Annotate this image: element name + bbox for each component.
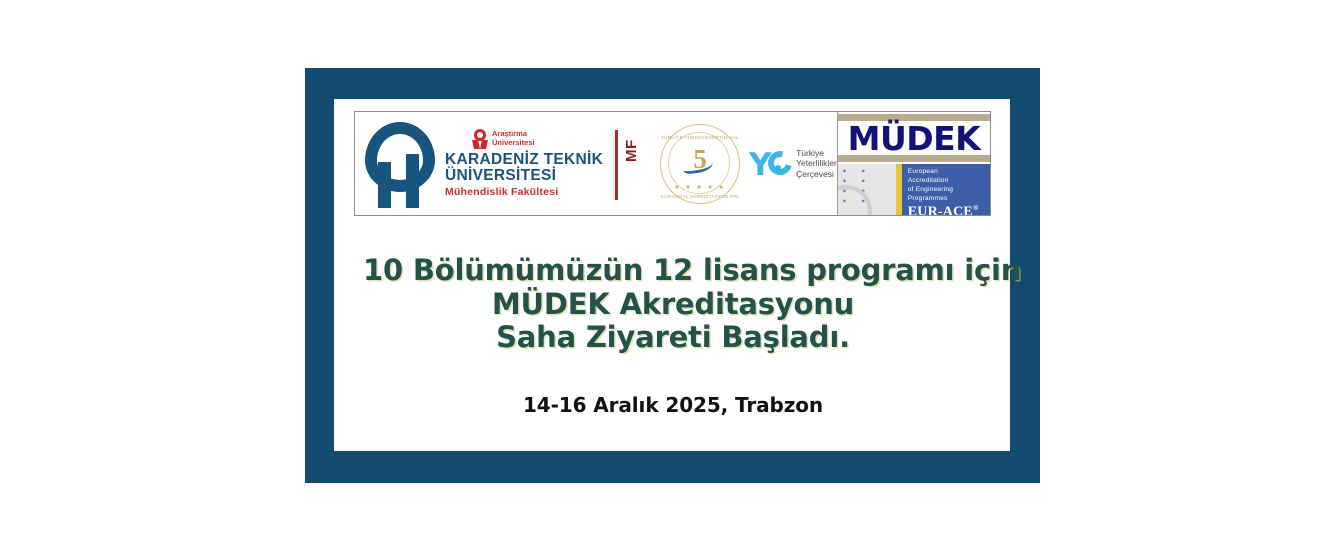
quality-seal-icon: TÜRKİYE YÜKSEKÖĞRETİM KALİTE KURULU 5 ★ … [660,124,740,204]
tyc-line-2: Yeterlilikler [796,158,837,168]
logo-strip: Araştırma Üniversitesi KARADENİZ TEKNİK … [354,111,991,216]
seal-arc-bottom-text: KURUMSAL AKREDİTASYON PROGRAMI [661,194,739,199]
seal-arc-top-text: TÜRKİYE YÜKSEKÖĞRETİM KALİTE KURULU [661,135,739,140]
mf-letters-label: MF [623,139,640,162]
eurace-registered-mark: ® [973,204,978,212]
ktu-text-block: Araştırma Üniversitesi KARADENİZ TEKNİK … [445,129,603,199]
rosette-ribbon-icon [473,129,488,149]
eurace-badge: ✶ ✶✶ ✶✶ ✶✶ ✶ European Accreditation of E… [838,164,990,215]
eurace-description: European Accreditation of Engineering Pr… [908,168,985,204]
ktu-name-line-1: KARADENİZ TEKNİK [445,152,603,168]
tyc-logo-block: Y Türkiye Yeterlilikler Çerçevesi [749,112,837,215]
eurace-yellow-stripe-shape [896,164,902,215]
headline-line-1: 10 Bölümümüzün 12 lisans programı için [363,254,983,288]
mudek-wordmark-label: MÜDEK [848,122,981,155]
ktu-right-leg-shape [406,154,419,208]
tyc-line-1: Türkiye [796,148,837,158]
poster-panel: Araştırma Üniversitesi KARADENİZ TEKNİK … [334,99,1010,451]
poster-frame: Araştırma Üniversitesi KARADENİZ TEKNİK … [305,68,1040,483]
tyc-line-3: Çerçevesi [796,169,837,179]
eurace-text-area: European Accreditation of Engineering Pr… [902,164,990,215]
headline-line-3: Saha Ziyareti Başladı. [363,321,983,355]
mudek-logo-block: MÜDEK ✶ ✶✶ ✶✶ ✶✶ ✶ European Accreditatio… [837,112,990,215]
mudek-wordmark-area: MÜDEK [838,112,990,164]
seal-stars-label: ★ ★ ★ ★ ★ [661,184,739,191]
poster-date-location: 14-16 Aralık 2025, Trabzon [363,393,983,417]
poster-headline: 10 Bölümümüzün 12 lisans programı için M… [363,254,983,355]
ktu-name-line-2: ÜNİVERSİTESİ [445,168,603,184]
eurace-wordmark-text: EUR-ACE [908,204,973,215]
research-university-badge: Araştırma Üniversitesi [473,129,603,149]
eurace-line-2: Accreditation [908,177,985,186]
ktu-left-leg-shape [378,162,391,208]
eurace-line-3: of Engineering [908,186,985,195]
ktu-ring-shape [365,122,435,192]
eurace-line-1: European [908,168,985,177]
ktu-faculty-label: Mühendislik Fakültesi [445,187,603,198]
eurace-line-4: Programmes [908,195,985,204]
tyc-mark-icon: Y [749,148,793,180]
ktu-emblem-icon [361,118,439,210]
tyc-dot-shape [775,165,781,171]
eurace-wordmark-label: EUR-ACE® [908,204,985,215]
research-university-label: Araştırma Üniversitesi [492,130,535,147]
mf-divider-block: MF [613,112,639,215]
mf-red-bar-shape [615,130,618,200]
headline-line-2: MÜDEK Akreditasyonu [363,288,983,322]
tyc-text-block: Türkiye Yeterlilikler Çerçevesi [796,148,837,179]
eurace-gear-graphic: ✶ ✶✶ ✶✶ ✶✶ ✶ [838,164,902,215]
ktu-logo-block: Araştırma Üniversitesi KARADENİZ TEKNİK … [355,112,603,215]
quality-seal-block: TÜRKİYE YÜKSEKÖĞRETİM KALİTE KURULU 5 ★ … [657,112,743,215]
